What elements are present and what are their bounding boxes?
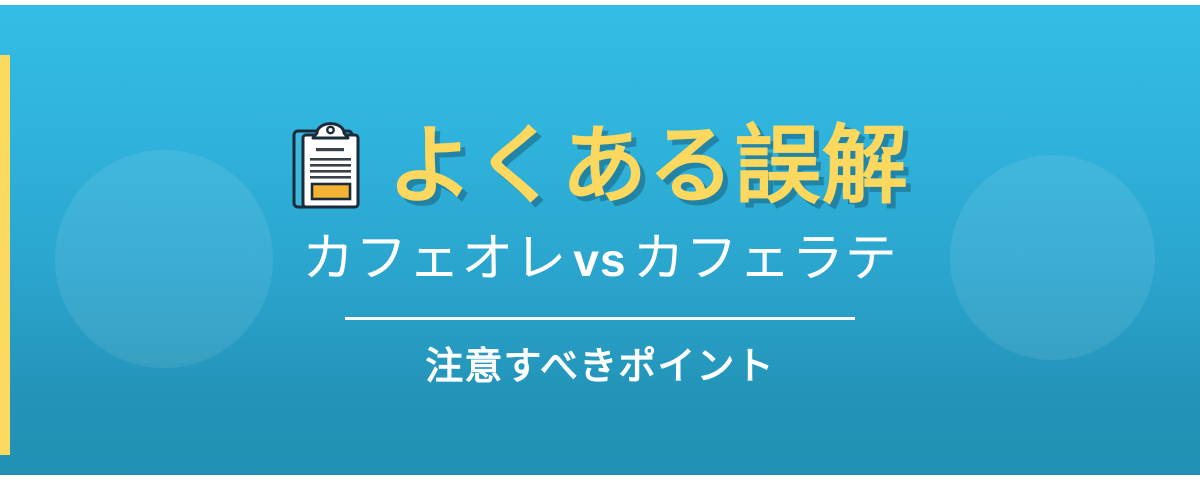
subtitle: カフェオレvsカフェラテ [302,233,898,285]
subtitle-left-term: カフェオレ [302,230,567,288]
subtitle-right-term: カフェラテ [633,230,898,288]
left-accent-stripe [0,55,10,455]
subtitle-vs-separator: vs [567,234,632,286]
banner-root: よくある誤解 カフェオレvsカフェラテ 注意すべきポイント [0,0,1200,500]
caption-text: 注意すべきポイント [425,348,775,386]
title-row: よくある誤解 [291,121,908,211]
divider-line [345,317,855,320]
page-title: よくある誤解 [387,123,908,209]
banner-content: よくある誤解 カフェオレvsカフェラテ 注意すべきポイント [0,0,1200,500]
clipboard-icon [291,121,361,211]
